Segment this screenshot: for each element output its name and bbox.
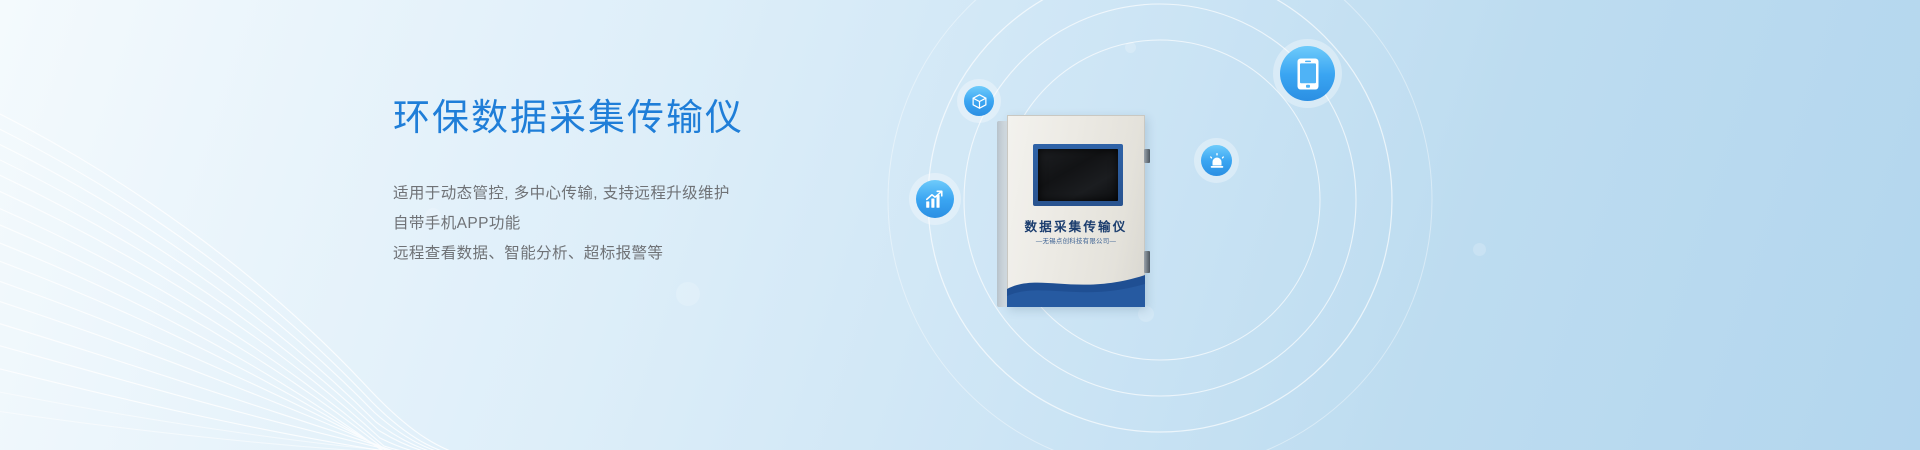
device-bottom-wave: [1007, 263, 1145, 307]
device-company-label: —无锡点创科技有限公司—: [1008, 236, 1144, 245]
device-photo: 数据采集传输仪 —无锡点创科技有限公司—: [997, 115, 1145, 307]
alarm-icon: [1201, 145, 1232, 176]
smartphone-icon: [1280, 46, 1335, 101]
device-label: 数据采集传输仪: [1008, 216, 1144, 235]
device-knob: [1144, 149, 1150, 163]
device-screen-bezel: [1033, 144, 1123, 206]
bokeh-dot: [676, 282, 700, 306]
arc-rings-decoration: [860, 0, 1620, 450]
product-banner: 环保数据采集传输仪 适用于动态管控, 多中心传输, 支持远程升级维护 自带手机A…: [0, 0, 1920, 450]
device-connector: [1144, 251, 1150, 273]
cube-icon: [964, 86, 994, 116]
product-illustration: 数据采集传输仪 —无锡点创科技有限公司—: [860, 0, 1620, 450]
bar-chart-icon: [916, 180, 954, 218]
device-screen: [1038, 149, 1118, 201]
